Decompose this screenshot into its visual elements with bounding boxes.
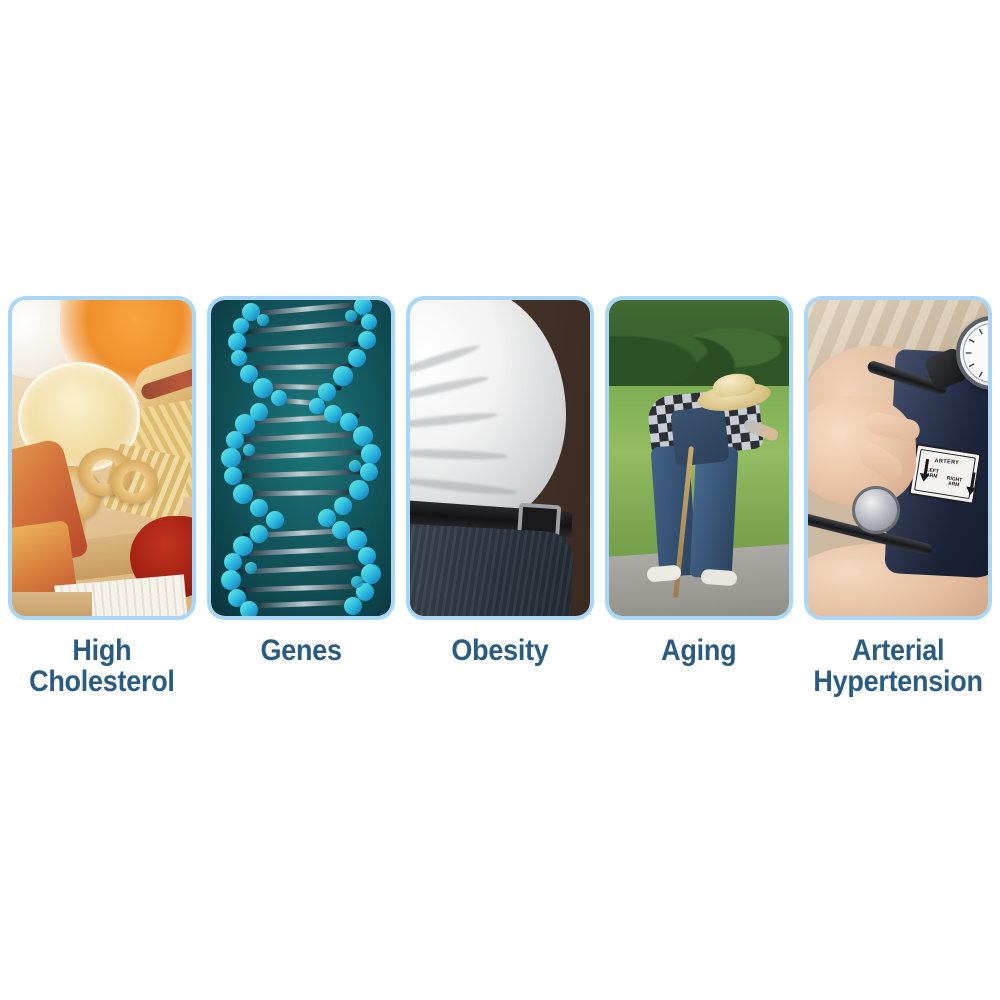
card-label-aging: Aging bbox=[661, 636, 736, 667]
risk-factor-card-row: High Cholesterol bbox=[0, 296, 1000, 697]
dna-helix-photo bbox=[211, 300, 391, 616]
cuff-artery-label: ARTERY LEFT ARM RIGHT ARM bbox=[908, 443, 981, 505]
cuff-label-right-arm-text: RIGHT ARM bbox=[945, 476, 962, 489]
blood-pressure-photo: ARTERY LEFT ARM RIGHT ARM bbox=[808, 300, 988, 616]
card-frame-high-cholesterol bbox=[8, 296, 196, 620]
elderly-with-cane-photo bbox=[609, 300, 789, 616]
right-jean-leg-shape bbox=[690, 445, 739, 579]
card-frame-aging bbox=[605, 296, 793, 620]
right-shoe-shape bbox=[701, 569, 738, 586]
obese-abdomen-photo bbox=[410, 300, 590, 616]
card-label-high-cholesterol: High Cholesterol bbox=[29, 636, 175, 697]
risk-factor-card-arterial-hypertension[interactable]: ARTERY LEFT ARM RIGHT ARM bbox=[804, 296, 992, 697]
denim-overalls-shape bbox=[670, 405, 730, 466]
card-label-arterial-hypertension: Arterial Hypertension bbox=[813, 636, 982, 697]
card-frame-arterial-hypertension: ARTERY LEFT ARM RIGHT ARM bbox=[804, 296, 992, 620]
tree-line-shape bbox=[609, 300, 789, 392]
jeans-shape bbox=[410, 523, 574, 616]
pressure-gauge-icon bbox=[956, 316, 988, 390]
dna-helix-icon bbox=[211, 300, 391, 616]
onion-ring-shape-3 bbox=[110, 460, 158, 504]
stethoscope-chestpiece-icon bbox=[852, 486, 900, 534]
infographic-root: High Cholesterol bbox=[0, 0, 1000, 1000]
risk-factor-card-high-cholesterol[interactable]: High Cholesterol bbox=[8, 296, 196, 697]
gauge-dial-face bbox=[960, 320, 988, 386]
card-frame-genes bbox=[207, 296, 395, 620]
junk-food-photo bbox=[12, 300, 192, 616]
card-label-genes: Genes bbox=[260, 636, 341, 667]
risk-factor-card-obesity[interactable]: Obesity bbox=[406, 296, 594, 667]
card-frame-obesity bbox=[406, 296, 594, 620]
card-label-obesity: Obesity bbox=[451, 636, 548, 667]
risk-factor-card-genes[interactable]: Genes bbox=[207, 296, 395, 667]
serving-tray-shape bbox=[12, 592, 92, 616]
risk-factor-card-aging[interactable]: Aging bbox=[605, 296, 793, 667]
